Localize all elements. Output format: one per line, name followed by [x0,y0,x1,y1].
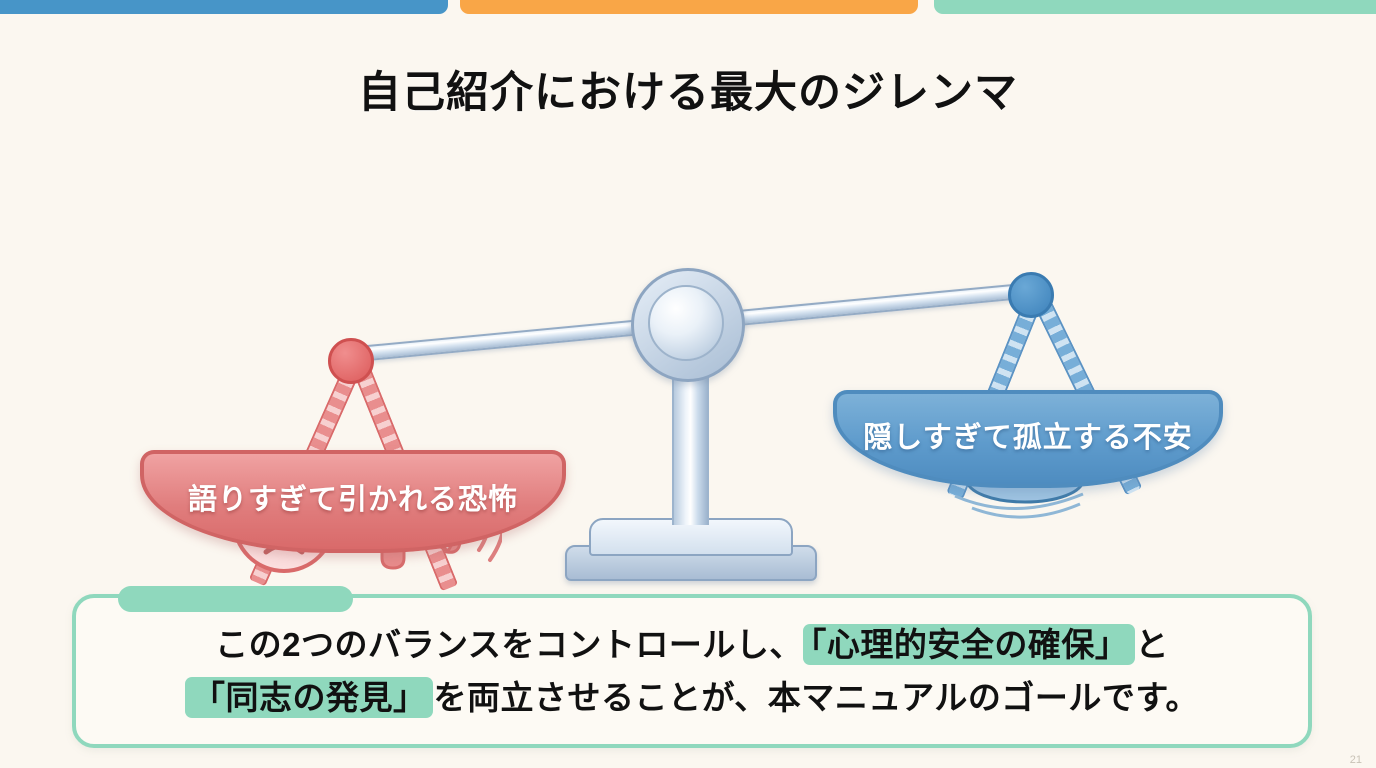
scale-pivot [631,268,745,382]
page-number: 21 [1350,754,1362,766]
caption-line1-part2: と [1135,626,1169,663]
caption-line-2: 「同志の発見」を両立させることが、本マニュアルのゴールです。 [76,671,1308,724]
scale-beam-end-knob-left [328,338,374,384]
top-accent-bar-orange [460,0,918,14]
caption-line-1: この2つのバランスをコントロールし、「心理的安全の確保」と [76,618,1308,671]
scale-pan-right-label: 隠しすぎて孤立する不安 [837,414,1219,456]
top-accent-bar-group [0,0,1376,14]
scale-pan-left-label: 語りすぎて引かれる恐怖 [144,476,562,518]
caption-line2-part2: を両立させることが、本マニュアルのゴールです。 [433,679,1199,716]
scale-pivot-inner [648,285,724,361]
caption-accent-tab [118,586,353,612]
caption-line1-highlight: 「心理的安全の確保」 [803,624,1136,665]
caption-line2-highlight: 「同志の発見」 [185,677,434,718]
caption-line1-part1: この2つのバランスをコントロールし、 [215,626,803,663]
scale-beam-end-knob-right [1008,272,1054,318]
top-accent-bar-green [934,0,1376,14]
scale-pan-right: 隠しすぎて孤立する不安 [833,390,1223,488]
page-title: 自己紹介における最大のジレンマ [0,58,1376,120]
balance-scale-illustration: 語りすぎて引かれる恐怖 隠しすぎて孤立する不安 [0,120,1376,590]
top-accent-bar-blue [0,0,448,14]
caption-box: この2つのバランスをコントロールし、「心理的安全の確保」と 「同志の発見」を両立… [72,594,1312,748]
scale-pan-left: 語りすぎて引かれる恐怖 [140,450,566,553]
caption-text: この2つのバランスをコントロールし、「心理的安全の確保」と 「同志の発見」を両立… [76,618,1308,724]
